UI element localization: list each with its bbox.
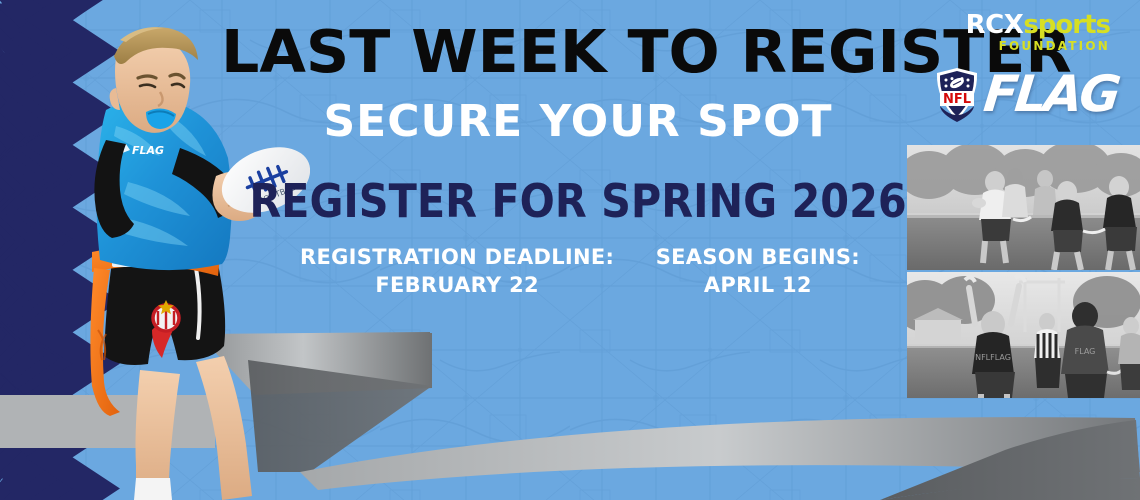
- key-dates-row: REGISTRATION DEADLINE: FEBRUARY 22 SEASO…: [300, 243, 860, 300]
- svg-text:FLAG: FLAG: [132, 144, 164, 157]
- nfl-shield-icon: NFL: [934, 66, 980, 122]
- subheadline: SECURE YOUR SPOT: [228, 100, 928, 144]
- promo-banner: FLAG FOOTBALL LAST WEEK TO RE: [0, 0, 1140, 500]
- svg-text:NFLFLAG: NFLFLAG: [975, 353, 1011, 362]
- season-begins-value: APRIL 12: [656, 271, 860, 299]
- registration-deadline-value: FEBRUARY 22: [300, 271, 614, 299]
- registration-deadline-label: REGISTRATION DEADLINE:: [300, 243, 614, 271]
- registration-deadline-block: REGISTRATION DEADLINE: FEBRUARY 22: [300, 243, 614, 300]
- rcx-sports-foundation-logo: RCXsports FOUNDATION: [966, 12, 1110, 52]
- season-begins-block: SEASON BEGINS: APRIL 12: [656, 243, 860, 300]
- nfl-flag-logo: NFL FLAG: [934, 66, 1118, 122]
- rcx-logo-subtitle: FOUNDATION: [966, 40, 1110, 52]
- nfl-flag-wordmark: FLAG: [982, 69, 1121, 119]
- season-begins-label: SEASON BEGINS:: [656, 243, 860, 271]
- rcx-logo-text-sports: sports: [1023, 10, 1110, 40]
- nfl-shield-label: NFL: [943, 92, 971, 107]
- svg-text:FLAG: FLAG: [1075, 347, 1096, 356]
- photo-kids-celebrating-with-referee: NFLFLAG FLAG: [907, 272, 1140, 398]
- season-headline: REGISTER FOR SPRING 2026: [228, 178, 928, 224]
- photo-kids-running-with-football: [907, 145, 1140, 270]
- page-title: LAST WEEK TO REGISTER: [221, 22, 935, 81]
- rcx-logo-text-rcx: RCX: [966, 10, 1024, 40]
- rcx-logo-wordmark: RCXsports: [966, 12, 1110, 38]
